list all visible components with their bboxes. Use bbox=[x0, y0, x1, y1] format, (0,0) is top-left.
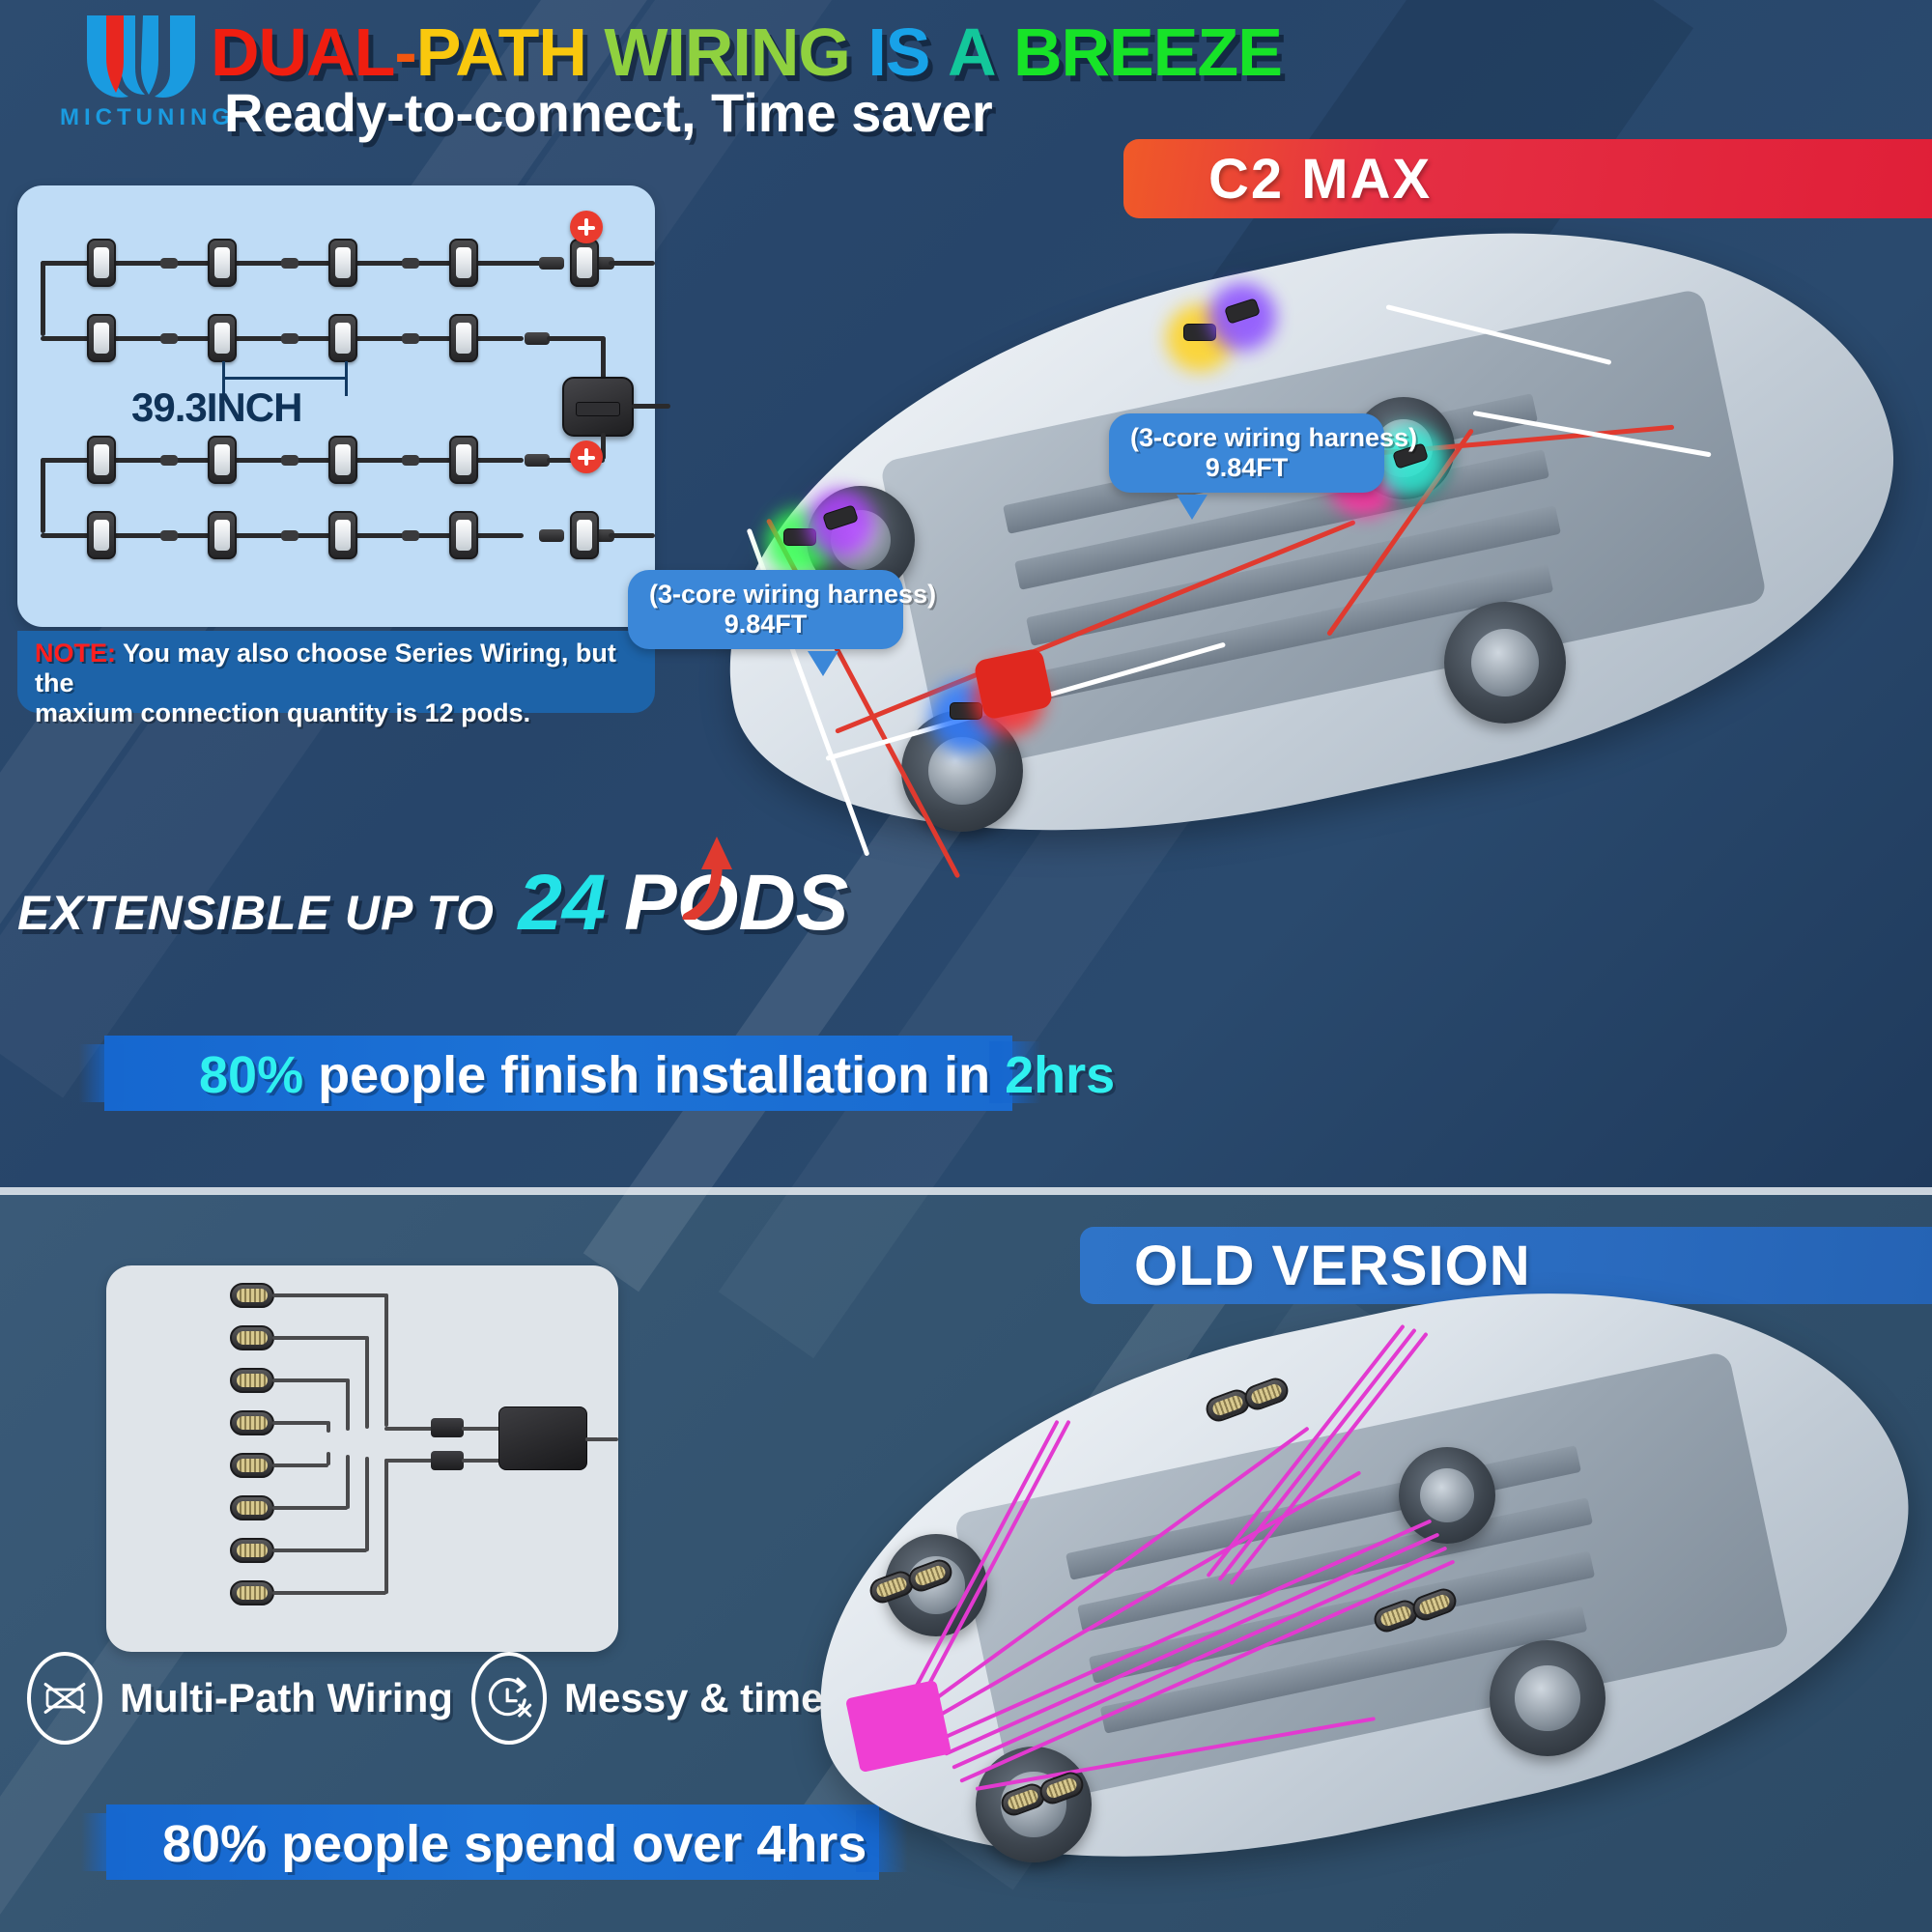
control-box-icon bbox=[562, 377, 634, 437]
wire-old bbox=[365, 1336, 369, 1429]
title-word bbox=[929, 14, 947, 91]
plus-circle-icon bbox=[570, 211, 603, 243]
light-pod bbox=[449, 314, 478, 362]
wire-old bbox=[346, 1378, 350, 1431]
title-word bbox=[850, 14, 867, 91]
wire-segment bbox=[41, 261, 45, 336]
title-word: WIRING bbox=[604, 14, 850, 91]
title-word: DUAL bbox=[211, 14, 394, 91]
note-keyword: NOTE: bbox=[35, 639, 116, 668]
light-pod bbox=[328, 436, 357, 484]
wire-old bbox=[384, 1459, 388, 1594]
light-pod bbox=[328, 239, 357, 287]
crossed-wires-icon bbox=[27, 1652, 102, 1745]
stat-text-old: 80% people spend over 4hrs bbox=[162, 1814, 867, 1874]
wire-old bbox=[365, 1457, 369, 1551]
wire-connector bbox=[281, 455, 298, 466]
wire-connector bbox=[402, 530, 419, 541]
stat-label-new: people finish installation in bbox=[303, 1046, 1005, 1104]
mictuning-m-logo-icon bbox=[81, 12, 207, 104]
section-divider bbox=[0, 1187, 1932, 1195]
note-text-1: You may also choose Series Wiring, but t… bbox=[35, 639, 616, 697]
wire-old bbox=[462, 1427, 502, 1431]
callout-harness-rear: (3-core wiring harness) 9.84FT bbox=[1109, 413, 1384, 493]
wire-connector bbox=[402, 333, 419, 344]
light-pod-old bbox=[230, 1325, 274, 1350]
wire-old bbox=[272, 1548, 367, 1552]
control-box-old-icon bbox=[498, 1406, 587, 1470]
title-word bbox=[586, 14, 604, 91]
wire-old bbox=[327, 1421, 330, 1433]
connector-old bbox=[431, 1451, 464, 1470]
light-pod bbox=[328, 511, 357, 559]
wire-connector bbox=[281, 530, 298, 541]
wire-connector bbox=[281, 258, 298, 269]
light-pod-old bbox=[230, 1538, 274, 1563]
wire-old bbox=[585, 1437, 618, 1441]
wire-old bbox=[272, 1506, 348, 1510]
light-pod bbox=[208, 314, 237, 362]
wire-connector bbox=[160, 530, 178, 541]
light-pod bbox=[87, 314, 116, 362]
title-word: IS bbox=[867, 14, 929, 91]
callout-line-1: (3-core wiring harness) bbox=[649, 580, 882, 610]
brand-logo: MICTUNING bbox=[60, 12, 229, 135]
wire-connector bbox=[160, 333, 178, 344]
title-word: BREEZE bbox=[1013, 14, 1282, 91]
light-pod bbox=[328, 314, 357, 362]
light-pod bbox=[570, 511, 599, 559]
wire-old bbox=[272, 1293, 386, 1297]
wire-segment bbox=[609, 261, 655, 266]
feature-multi-path: Multi-Path Wiring bbox=[27, 1652, 453, 1745]
multi-path-wiring-diagram bbox=[106, 1265, 618, 1652]
stat-percent-old: 80% bbox=[162, 1815, 267, 1873]
wheel bbox=[1490, 1640, 1605, 1756]
clock-x-glyph bbox=[483, 1672, 535, 1724]
wire-connector bbox=[402, 455, 419, 466]
wire-old bbox=[384, 1459, 433, 1463]
stat-label-old: people spend over 4hrs bbox=[267, 1815, 867, 1873]
light-pod bbox=[208, 511, 237, 559]
light-pod bbox=[449, 511, 478, 559]
page-subtitle: Ready-to-connect, Time saver bbox=[224, 81, 993, 144]
stat-text-new: 80% people finish installation in 2hrs bbox=[199, 1045, 1115, 1105]
title-word: PATH bbox=[416, 14, 586, 91]
callout-line-1: (3-core wiring harness) bbox=[1130, 423, 1363, 453]
extensible-prefix: EXTENSIBLE UP TO bbox=[17, 886, 495, 940]
page-title: DUAL-PATH WIRING IS A BREEZE bbox=[211, 14, 1282, 91]
light-pod-old bbox=[230, 1283, 274, 1308]
title-word: - bbox=[394, 14, 415, 91]
wire-plug bbox=[539, 529, 564, 542]
wire-old bbox=[272, 1463, 328, 1467]
wire-old bbox=[462, 1459, 502, 1463]
plus-circle-icon bbox=[570, 440, 603, 473]
vehicle-diagram-old bbox=[802, 1285, 1932, 1903]
wire-old bbox=[272, 1591, 386, 1595]
title-word: A bbox=[948, 14, 996, 91]
light-pod bbox=[87, 239, 116, 287]
callout-harness-front: (3-core wiring harness) 9.84FT bbox=[628, 570, 903, 649]
wire-old bbox=[272, 1336, 367, 1340]
wire-old bbox=[327, 1452, 330, 1465]
light-pod bbox=[570, 239, 599, 287]
light-pod-old bbox=[230, 1368, 274, 1393]
wire-segment bbox=[609, 533, 655, 538]
connector-old bbox=[431, 1418, 464, 1437]
wire-old bbox=[384, 1293, 388, 1427]
light-pod-old bbox=[230, 1453, 274, 1478]
stat-percent-new: 80% bbox=[199, 1046, 303, 1104]
callout-line-2: 9.84FT bbox=[1130, 453, 1363, 483]
note-line-2: maxium connection quantity is 12 pods. bbox=[35, 698, 639, 728]
title-word bbox=[996, 14, 1013, 91]
badge-new-version-label: C2 MAX bbox=[1208, 147, 1432, 212]
wiring-note: NOTE: You may also choose Series Wiring,… bbox=[17, 631, 655, 713]
infographic-root: MICTUNING DUAL-PATH WIRING IS A BREEZE R… bbox=[0, 0, 1932, 1932]
feature-multi-path-label: Multi-Path Wiring bbox=[120, 1675, 453, 1721]
wire-old bbox=[272, 1421, 328, 1425]
light-pod bbox=[87, 436, 116, 484]
wire-segment bbox=[41, 458, 45, 533]
light-pod bbox=[449, 239, 478, 287]
light-pod-old bbox=[230, 1580, 274, 1605]
light-pod bbox=[208, 239, 237, 287]
light-pod-old bbox=[230, 1495, 274, 1520]
stat-highlight-new: 2hrs bbox=[1005, 1046, 1115, 1104]
extensible-number: 24 bbox=[518, 859, 606, 947]
light-pod bbox=[87, 511, 116, 559]
clock-x-icon bbox=[471, 1652, 547, 1745]
vehicle-diagram-new bbox=[710, 227, 1932, 855]
wheel bbox=[1444, 602, 1566, 724]
wire-connector bbox=[160, 455, 178, 466]
brand-name: MICTUNING bbox=[60, 104, 229, 131]
badge-new-version: C2 MAX bbox=[1123, 139, 1932, 218]
note-line-1: NOTE: You may also choose Series Wiring,… bbox=[35, 639, 639, 698]
light-pod bbox=[449, 436, 478, 484]
wire-segment bbox=[547, 336, 605, 341]
wire-connector bbox=[402, 258, 419, 269]
wire-connector bbox=[160, 258, 178, 269]
dimension-label: 39.3INCH bbox=[131, 384, 301, 431]
wire-segment bbox=[77, 261, 560, 266]
wire-old bbox=[384, 1427, 433, 1431]
wire-plug bbox=[539, 257, 564, 270]
dual-path-wiring-diagram: 39.3INCH bbox=[17, 185, 655, 627]
callout-line-2: 9.84FT bbox=[649, 610, 882, 639]
wire-connector bbox=[281, 333, 298, 344]
wire-old bbox=[272, 1378, 348, 1382]
crossed-wires-glyph bbox=[39, 1672, 91, 1724]
light-pod-old bbox=[230, 1410, 274, 1435]
wire-old bbox=[346, 1455, 350, 1509]
wire-segment bbox=[632, 404, 670, 409]
light-pod bbox=[208, 436, 237, 484]
